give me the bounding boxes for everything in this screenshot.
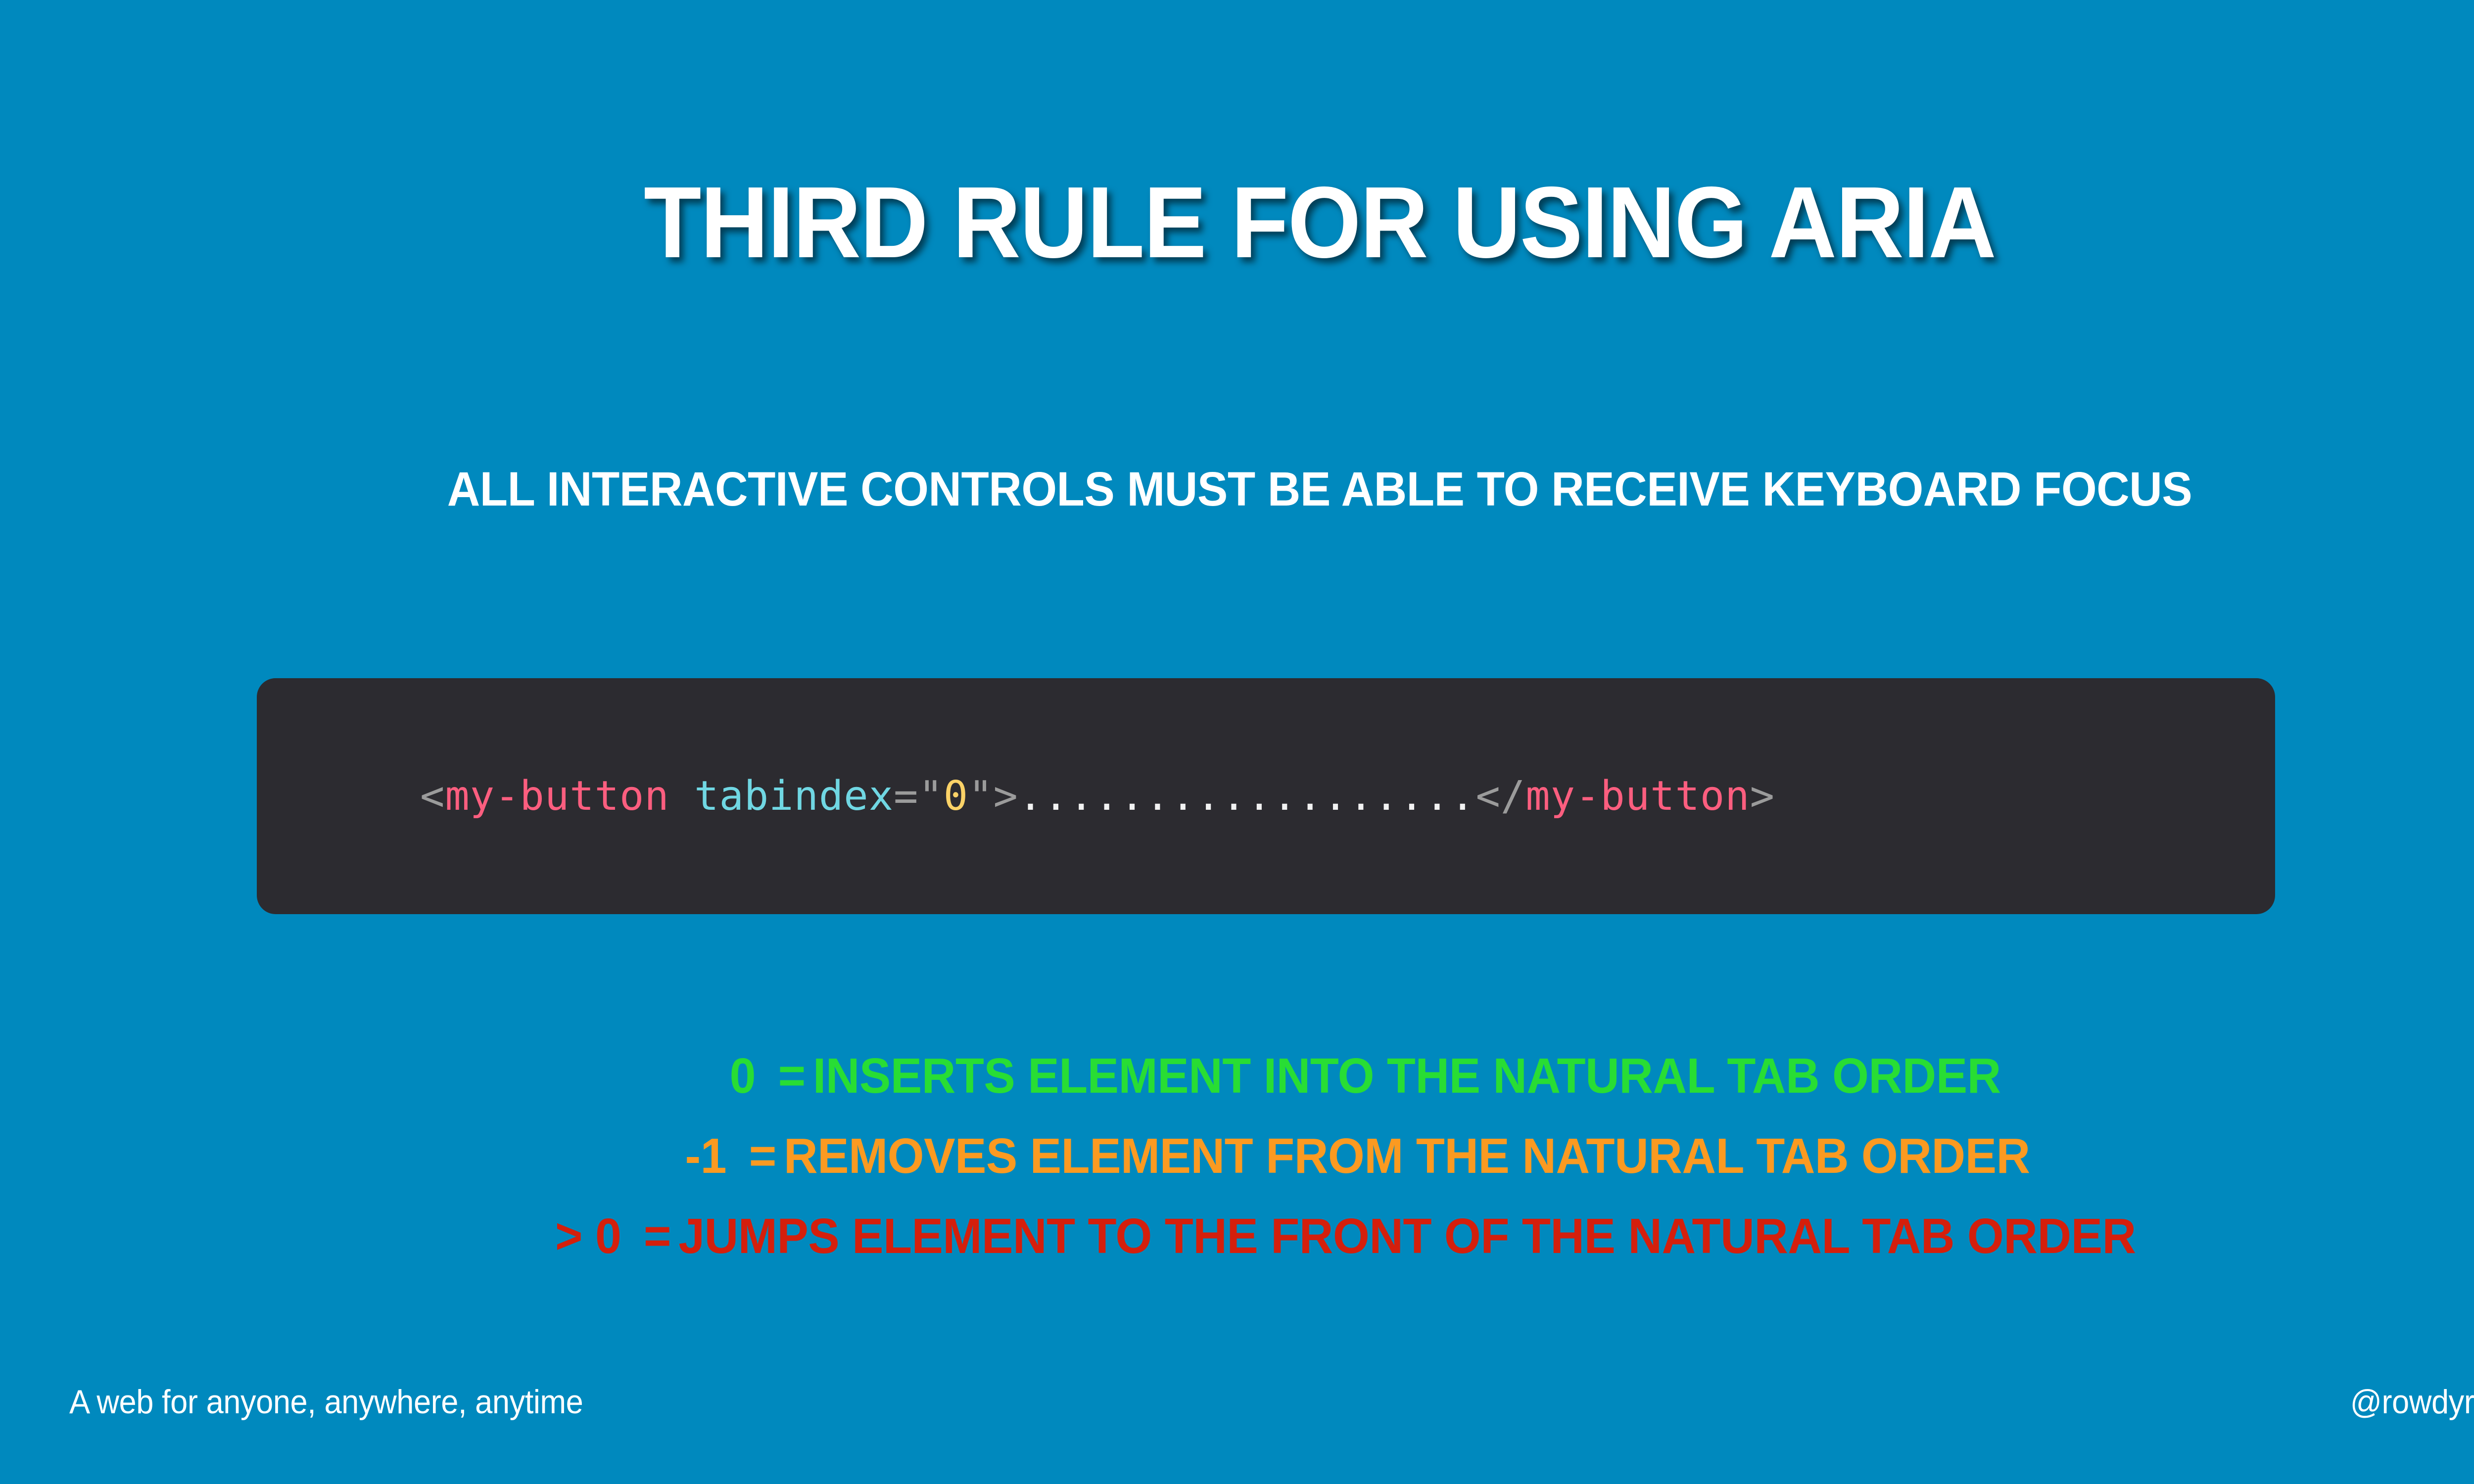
footer-tagline: A web for anyone, anywhere, anytime: [69, 1385, 583, 1419]
legend-description: INSERTS ELEMENT INTO THE NATURAL TAB ORD…: [813, 1051, 2001, 1101]
code-token-open-bracket: <: [420, 773, 445, 820]
footer-social-handle: @rowdyrabouw: [2350, 1385, 2474, 1419]
presentation-slide: THIRD RULE FOR USING ARIA ALL INTERACTIV…: [0, 0, 2474, 1484]
code-token-tag-open: my-button: [445, 773, 669, 820]
tabindex-legend: 0 = INSERTS ELEMENT INTO THE NATURAL TAB…: [0, 1051, 2474, 1261]
code-token-quote-close: ": [968, 773, 993, 820]
legend-description: JUMPS ELEMENT TO THE FRONT OF THE NATURA…: [678, 1211, 2136, 1261]
legend-row: 0 = INSERTS ELEMENT INTO THE NATURAL TAB…: [638, 1051, 2001, 1101]
code-token-end-open-bracket: </: [1476, 773, 1526, 820]
legend-key: -1: [609, 1131, 742, 1181]
code-token-equals: =: [894, 773, 918, 820]
legend-equals-sign: =: [742, 1131, 784, 1181]
legend-equals-sign: =: [636, 1211, 678, 1261]
code-snippet: <my-button tabindex="0">................…: [257, 776, 1775, 817]
code-token-attribute-name: tabindex: [694, 773, 894, 820]
legend-row: > 0 = JUMPS ELEMENT TO THE FRONT OF THE …: [504, 1211, 2136, 1261]
code-token-space: [669, 773, 694, 820]
legend-key: > 0: [504, 1211, 636, 1261]
code-token-content-ellipsis: ..................: [1018, 773, 1476, 820]
slide-subtitle: ALL INTERACTIVE CONTROLS MUST BE ABLE TO…: [66, 463, 2474, 516]
code-token-quote-open: ": [918, 773, 943, 820]
code-token-close-bracket: >: [994, 773, 1018, 820]
legend-key: 0: [638, 1051, 771, 1101]
code-block: <my-button tabindex="0">................…: [257, 678, 2275, 914]
page-title: THIRD RULE FOR USING ARIA: [93, 169, 2474, 276]
code-token-end-close-bracket: >: [1750, 773, 1775, 820]
legend-description: REMOVES ELEMENT FROM THE NATURAL TAB ORD…: [784, 1131, 2030, 1181]
legend-equals-sign: =: [771, 1051, 813, 1101]
code-token-tag-close: my-button: [1525, 773, 1750, 820]
code-token-attribute-value: 0: [944, 773, 968, 820]
legend-row: -1 = REMOVES ELEMENT FROM THE NATURAL TA…: [609, 1131, 2030, 1181]
